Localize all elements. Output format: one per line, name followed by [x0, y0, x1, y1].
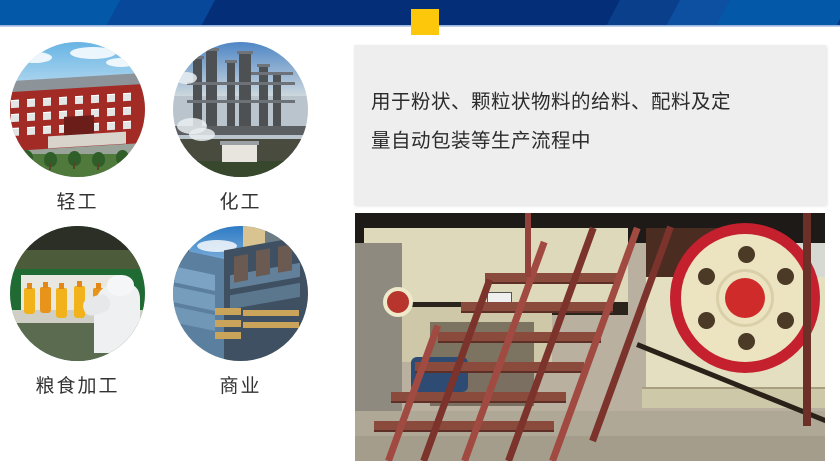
industry-item-light[interactable]: 轻工 — [0, 42, 159, 212]
pipe — [251, 72, 293, 75]
cloud-icon — [106, 58, 136, 67]
pipe — [187, 82, 295, 85]
description-line-1: 用于粉状、颗粒状物料的给料、配料及定 — [371, 83, 801, 122]
industry-item-commerce[interactable]: 商业 — [159, 226, 322, 396]
worker-cap — [107, 275, 134, 297]
grass — [173, 161, 308, 177]
gold-trim — [215, 332, 241, 339]
pipe — [187, 100, 295, 103]
distillation-tower — [227, 60, 235, 130]
mall-right-facade — [224, 234, 308, 361]
mall-left-facade — [173, 246, 227, 361]
banner-shape-6 — [717, 0, 840, 25]
conveyor-frame — [10, 250, 145, 269]
industry-label: 粮食加工 — [0, 377, 159, 396]
red-flywheel — [670, 223, 820, 373]
grain-processing-line-photo — [10, 226, 145, 361]
gold-trim — [215, 308, 241, 315]
steam-plume — [189, 128, 215, 141]
application-industries: 轻工 化工 — [0, 30, 345, 430]
cloud-icon — [70, 47, 116, 59]
commercial-mall-photo — [173, 226, 308, 361]
industry-label: 化工 — [159, 193, 322, 212]
distillation-tower — [206, 48, 217, 130]
gold-trim — [215, 320, 241, 327]
crusher-base — [642, 387, 825, 409]
industry-item-chemical[interactable]: 化工 — [159, 42, 322, 212]
gold-trim — [243, 310, 299, 316]
red-steel-stairs — [374, 213, 665, 461]
steam-plume — [175, 72, 197, 84]
light-industry-building-photo — [10, 42, 145, 177]
description-line-2: 量自动包装等生产流程中 — [371, 122, 801, 161]
plant-hut — [222, 145, 257, 163]
distillation-tower — [239, 51, 251, 130]
gold-trim — [243, 322, 299, 328]
steel-pole — [803, 213, 811, 426]
description-panel: 用于粉状、颗粒状物料的给料、配料及定 量自动包装等生产流程中 — [354, 45, 826, 205]
industry-label: 轻工 — [0, 193, 159, 212]
industry-label: 商业 — [159, 377, 322, 396]
flywheel-disc — [681, 234, 809, 362]
jaw-crusher-site-photo — [355, 213, 825, 461]
industry-item-grain[interactable]: 粮食加工 — [0, 226, 159, 396]
flywheel-hub-center — [725, 278, 765, 318]
flywheel-hub — [716, 269, 774, 327]
chemical-plant-photo — [173, 42, 308, 177]
yellow-accent-tab — [411, 9, 439, 35]
cloud-icon — [18, 52, 52, 63]
page-root: 轻工 化工 — [0, 0, 840, 464]
